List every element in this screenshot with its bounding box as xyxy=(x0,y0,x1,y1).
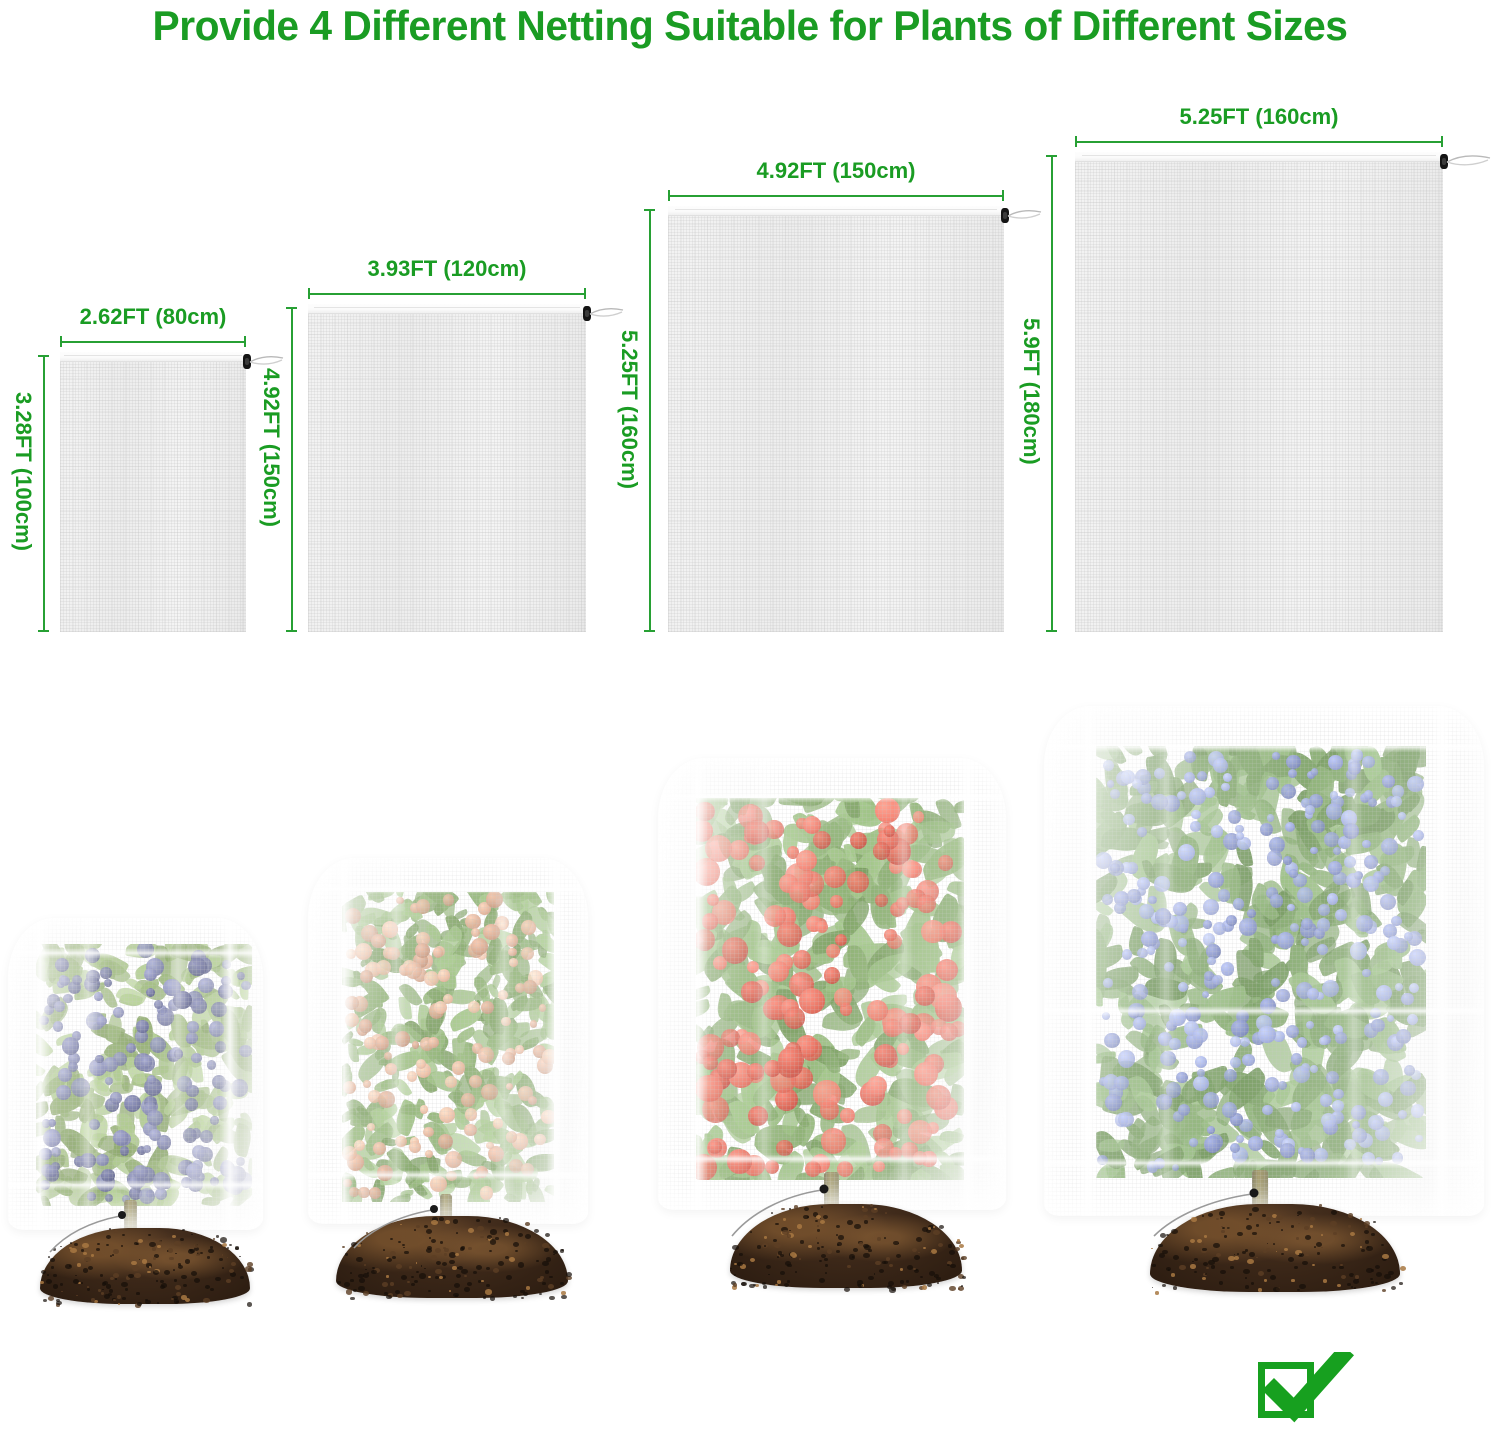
fruit xyxy=(777,922,802,947)
soil-speck xyxy=(1331,1210,1337,1215)
soil-speck xyxy=(1341,1244,1345,1247)
soil-speck xyxy=(181,1295,187,1299)
fruit xyxy=(1409,983,1419,993)
soil-speck xyxy=(483,1296,486,1298)
soil-speck xyxy=(247,1302,252,1306)
fruit xyxy=(1258,1026,1275,1043)
fruit xyxy=(1137,827,1146,836)
soil-speck xyxy=(847,1265,852,1269)
soil-speck xyxy=(734,1274,736,1276)
fruit xyxy=(72,975,82,985)
fruit xyxy=(364,1037,376,1049)
soil-speck xyxy=(884,1261,888,1264)
soil-speck xyxy=(787,1264,791,1267)
soil-speck xyxy=(1211,1265,1215,1268)
fruit xyxy=(113,1007,124,1018)
fruit xyxy=(813,1080,840,1107)
fruit xyxy=(821,1128,847,1154)
soil-speck xyxy=(877,1237,881,1240)
soil-speck xyxy=(912,1248,917,1252)
soil-speck xyxy=(1270,1275,1276,1280)
soil-speck xyxy=(404,1291,411,1296)
soil-speck xyxy=(1365,1226,1368,1228)
soil-speck xyxy=(103,1281,108,1285)
soil-speck xyxy=(1375,1282,1378,1284)
fruit xyxy=(133,1165,148,1180)
fruit xyxy=(420,1105,428,1113)
fruit xyxy=(1207,1126,1215,1134)
soil-speck xyxy=(868,1249,872,1252)
soil-speck xyxy=(371,1270,376,1274)
soil-speck xyxy=(868,1276,874,1281)
soil-speck xyxy=(178,1263,181,1266)
soil-speck xyxy=(933,1226,935,1228)
soil-speck xyxy=(1249,1252,1255,1257)
soil-speck xyxy=(1299,1253,1302,1256)
fruit xyxy=(1177,791,1186,800)
soil-speck xyxy=(961,1256,967,1260)
soil-speck xyxy=(1179,1265,1185,1270)
fruit xyxy=(824,866,846,888)
soil-speck xyxy=(931,1249,937,1254)
soil-speck xyxy=(1341,1275,1347,1279)
fruit xyxy=(1293,1066,1310,1083)
soil-speck xyxy=(464,1275,467,1277)
soil-speck xyxy=(226,1279,231,1283)
soil-speck xyxy=(1376,1272,1382,1277)
soil-speck xyxy=(950,1264,956,1268)
soil-speck xyxy=(481,1280,483,1282)
fruit xyxy=(1364,855,1378,869)
fruit xyxy=(1132,984,1148,1000)
plant-3-foliage xyxy=(696,798,964,1180)
soil-speck xyxy=(1332,1266,1336,1269)
fruit xyxy=(1378,1092,1393,1107)
fruit xyxy=(1356,915,1373,932)
soil-speck xyxy=(1281,1253,1284,1255)
fruit xyxy=(1326,803,1342,819)
soil-speck xyxy=(566,1272,572,1277)
fruit xyxy=(1110,789,1120,799)
fruit xyxy=(86,970,100,984)
soil-speck xyxy=(739,1253,743,1256)
fruit xyxy=(239,1045,251,1057)
fruit xyxy=(1222,1102,1237,1117)
soil-speck xyxy=(1288,1257,1294,1262)
fruit xyxy=(191,998,207,1014)
soil-speck xyxy=(46,1279,52,1284)
soil-speck xyxy=(870,1204,873,1207)
fruit xyxy=(1317,944,1328,955)
soil-speck xyxy=(922,1227,928,1232)
fruit xyxy=(707,894,719,906)
fruit xyxy=(1221,962,1235,976)
fruit xyxy=(1320,1094,1332,1106)
panel-3-cord-lock-toggle[interactable] xyxy=(1001,205,1047,227)
soil-speck xyxy=(102,1289,104,1291)
soil-speck xyxy=(1298,1223,1300,1224)
soil-speck xyxy=(1237,1253,1239,1255)
fruit xyxy=(1352,1128,1367,1143)
soil-speck xyxy=(1302,1261,1307,1265)
soil-speck xyxy=(153,1270,159,1275)
soil-speck xyxy=(561,1291,566,1295)
soil-speck xyxy=(499,1217,501,1219)
soil-speck xyxy=(1299,1284,1306,1289)
fruit xyxy=(445,1151,462,1168)
fruit xyxy=(1102,894,1113,905)
panel-3-hem xyxy=(668,206,1004,216)
fruit xyxy=(100,967,112,979)
soil-speck xyxy=(1373,1221,1375,1223)
soil-speck xyxy=(132,1265,139,1270)
fruit xyxy=(209,1021,224,1036)
fruit xyxy=(461,1093,475,1107)
soil-speck xyxy=(1310,1225,1314,1228)
fruit xyxy=(231,1079,249,1097)
soil-speck xyxy=(768,1274,770,1276)
fruit xyxy=(39,1148,52,1161)
soil-speck xyxy=(1354,1287,1357,1289)
fruit xyxy=(371,934,385,948)
soil-speck xyxy=(933,1230,939,1235)
fruit xyxy=(407,1071,417,1081)
fruit xyxy=(1178,1104,1190,1116)
soil-speck xyxy=(428,1276,431,1278)
soil-speck xyxy=(495,1237,499,1240)
fruit xyxy=(1362,969,1370,977)
plant-group-1 xyxy=(2,918,302,1318)
soil-speck xyxy=(922,1285,927,1289)
soil-speck xyxy=(239,1256,241,1257)
fruit xyxy=(1362,756,1375,769)
fruit xyxy=(198,978,213,993)
fruit xyxy=(1248,1136,1263,1151)
soil-speck xyxy=(885,1212,887,1214)
soil-speck xyxy=(1155,1291,1160,1295)
plant-4-foliage xyxy=(1096,746,1426,1178)
netting-panel-3[interactable] xyxy=(668,206,1004,632)
soil-speck xyxy=(134,1273,140,1278)
soil-speck xyxy=(449,1260,455,1265)
fruit xyxy=(1307,988,1319,1000)
soil-speck xyxy=(386,1275,389,1277)
soil-speck xyxy=(359,1278,365,1283)
soil-speck xyxy=(411,1276,414,1279)
soil-speck xyxy=(949,1250,955,1255)
fruit xyxy=(1118,1050,1135,1067)
soil-speck xyxy=(456,1274,461,1278)
check-icon xyxy=(1264,1352,1354,1426)
soil-speck xyxy=(879,1269,884,1273)
soil-speck xyxy=(542,1282,546,1285)
soil-speck xyxy=(409,1266,412,1268)
page-title: Provide 4 Different Netting Suitable for… xyxy=(23,2,1478,50)
fruit xyxy=(1318,904,1330,916)
drawstring-cord-icon xyxy=(1446,151,1496,173)
soil-speck xyxy=(169,1257,173,1260)
fruit xyxy=(378,1091,395,1108)
fruit xyxy=(62,1037,80,1055)
fruit xyxy=(1203,1092,1219,1108)
soil-speck xyxy=(1190,1264,1196,1268)
soil-speck xyxy=(1360,1218,1362,1220)
fruit xyxy=(1230,1036,1241,1047)
soil-speck xyxy=(180,1238,184,1241)
fruit xyxy=(1330,791,1338,799)
soil-speck xyxy=(108,1293,112,1296)
soil-speck xyxy=(147,1271,150,1274)
soil-speck xyxy=(219,1258,223,1261)
soil-speck xyxy=(1264,1279,1267,1281)
soil-speck xyxy=(240,1276,244,1279)
fruit xyxy=(443,894,454,905)
fruit xyxy=(1239,918,1256,935)
soil-speck xyxy=(1234,1256,1239,1260)
soil-speck xyxy=(53,1284,58,1288)
fruit xyxy=(1260,823,1273,836)
leaf xyxy=(696,998,711,1019)
plant-2-drawstring xyxy=(348,1186,478,1260)
soil-speck xyxy=(386,1295,392,1300)
soil-speck xyxy=(164,1270,170,1275)
soil-speck xyxy=(1251,1282,1254,1285)
fruit xyxy=(1128,1007,1139,1018)
fruit xyxy=(498,990,508,1000)
soil-speck xyxy=(172,1235,176,1238)
soil-speck xyxy=(100,1274,103,1277)
fruit xyxy=(423,1127,433,1137)
soil-speck xyxy=(1339,1266,1344,1270)
fruit xyxy=(409,1141,421,1153)
soil-speck xyxy=(928,1227,931,1230)
fruit xyxy=(210,1116,219,1125)
fruit xyxy=(1280,1143,1295,1158)
soil-speck xyxy=(948,1244,952,1247)
fruit xyxy=(1266,777,1279,790)
soil-speck xyxy=(545,1270,549,1273)
fruit xyxy=(416,899,430,913)
soil-speck xyxy=(937,1282,939,1284)
fruit xyxy=(94,992,103,1001)
fruit xyxy=(1311,768,1318,775)
soil-speck xyxy=(88,1266,93,1270)
soil-speck xyxy=(390,1282,394,1285)
plant-group-3 xyxy=(652,758,1012,1318)
fruit xyxy=(834,988,852,1006)
soil-speck xyxy=(442,1262,447,1266)
fruit xyxy=(1114,1076,1129,1091)
soil-speck xyxy=(775,1284,778,1286)
soil-speck xyxy=(207,1256,210,1258)
fruit xyxy=(1283,856,1292,865)
fruit xyxy=(539,1004,546,1011)
fruit xyxy=(702,913,719,930)
fruit xyxy=(768,961,789,982)
fruit xyxy=(191,1053,202,1064)
soil-speck xyxy=(1230,1266,1234,1269)
soil-speck xyxy=(906,1280,909,1283)
soil-speck xyxy=(857,1284,861,1287)
fruit xyxy=(703,1056,718,1071)
fruit xyxy=(53,1021,63,1031)
fruit xyxy=(799,988,825,1014)
soil-speck xyxy=(1263,1250,1267,1253)
soil-speck xyxy=(1330,1221,1337,1226)
soil-speck xyxy=(1399,1282,1403,1285)
soil-speck xyxy=(962,1276,966,1279)
soil-speck xyxy=(231,1262,236,1266)
fruit xyxy=(1333,1089,1343,1099)
soil-speck xyxy=(48,1296,54,1301)
soil-speck xyxy=(1258,1271,1264,1276)
leaf xyxy=(1248,938,1263,967)
soil-speck xyxy=(191,1271,197,1276)
soil-speck xyxy=(51,1266,54,1268)
fruit xyxy=(1311,820,1324,833)
panel-2-width-label: 3.93FT (120cm) xyxy=(308,256,586,282)
fruit xyxy=(1317,918,1330,931)
fruit xyxy=(1267,850,1283,866)
fruit xyxy=(921,920,944,943)
soil-speck xyxy=(525,1234,531,1239)
panel-4-cord-lock-toggle[interactable] xyxy=(1440,151,1486,173)
fruit xyxy=(360,970,373,983)
fruit xyxy=(96,1016,106,1026)
netting-panel-2[interactable] xyxy=(308,304,586,632)
soil-speck xyxy=(1168,1269,1170,1271)
soil-speck xyxy=(1375,1265,1380,1269)
panel-3-width-dimension-line xyxy=(668,190,1004,201)
soil-speck xyxy=(1194,1271,1197,1273)
fruit xyxy=(46,1165,58,1177)
soil-speck xyxy=(43,1299,47,1302)
selected-checkmark[interactable] xyxy=(1258,1352,1354,1430)
fruit xyxy=(1277,932,1294,949)
fruit xyxy=(1276,989,1289,1002)
fruit xyxy=(1328,755,1343,770)
fruit xyxy=(68,1062,78,1072)
netting-panel-4[interactable] xyxy=(1075,152,1443,632)
fruit xyxy=(884,825,896,837)
soil-speck xyxy=(1276,1251,1278,1252)
soil-speck xyxy=(1312,1264,1315,1266)
soil-speck xyxy=(1391,1286,1397,1290)
soil-speck xyxy=(1350,1232,1355,1236)
soil-speck xyxy=(1304,1226,1309,1230)
soil-speck xyxy=(411,1283,415,1286)
soil-speck xyxy=(1305,1254,1308,1257)
fruit xyxy=(534,1134,545,1145)
soil-speck xyxy=(1258,1288,1262,1291)
panel-3-height-dimension-line xyxy=(644,209,655,632)
fruit xyxy=(509,958,518,967)
fruit xyxy=(776,1140,792,1156)
soil-speck xyxy=(122,1297,125,1300)
soil-speck xyxy=(215,1277,221,1281)
soil-speck xyxy=(561,1295,567,1300)
fruit xyxy=(917,895,935,913)
soil-speck xyxy=(216,1235,219,1237)
soil-speck xyxy=(489,1250,492,1252)
fruit xyxy=(1351,749,1364,762)
soil-speck xyxy=(1173,1286,1177,1289)
soil-speck xyxy=(416,1262,418,1263)
fruit xyxy=(1203,899,1219,915)
soil-speck xyxy=(449,1290,452,1292)
soil-speck xyxy=(175,1253,177,1254)
soil-speck xyxy=(1205,1273,1207,1275)
fruit xyxy=(376,960,391,975)
fruit xyxy=(345,1013,359,1027)
fruit xyxy=(1260,998,1276,1014)
soil-speck xyxy=(1291,1279,1294,1282)
fruit xyxy=(173,991,191,1009)
soil-speck xyxy=(196,1254,199,1257)
fruit xyxy=(515,983,525,993)
soil-speck xyxy=(1194,1258,1198,1262)
soil-speck xyxy=(396,1264,402,1269)
soil-speck xyxy=(1273,1287,1280,1292)
fruit xyxy=(1223,773,1232,782)
netting-panel-1[interactable] xyxy=(60,352,246,632)
soil-speck xyxy=(344,1282,350,1287)
soil-speck xyxy=(76,1295,78,1296)
fruit xyxy=(914,1062,938,1086)
fruit xyxy=(1335,1032,1347,1044)
soil-speck xyxy=(1267,1269,1271,1272)
fruit xyxy=(1151,794,1167,810)
fruit xyxy=(1211,825,1224,838)
fruit xyxy=(452,1061,465,1074)
fruit xyxy=(896,897,909,910)
soil-speck xyxy=(537,1278,543,1283)
fruit xyxy=(1178,982,1188,992)
soil-speck xyxy=(506,1275,512,1280)
soil-speck xyxy=(118,1303,120,1305)
fruit xyxy=(508,948,517,957)
soil-speck xyxy=(902,1285,907,1289)
fruit xyxy=(1413,830,1424,841)
soil-speck xyxy=(350,1297,354,1300)
soil-speck xyxy=(53,1274,56,1277)
soil-speck xyxy=(1382,1289,1386,1292)
soil-speck xyxy=(875,1261,880,1265)
fruit xyxy=(1212,975,1222,985)
infographic-canvas: Provide 4 Different Netting Suitable for… xyxy=(0,0,1500,1437)
soil-speck xyxy=(1349,1273,1355,1278)
soil-speck xyxy=(824,1258,827,1261)
fruit xyxy=(1297,1037,1308,1048)
fruit xyxy=(1122,949,1132,959)
soil-speck xyxy=(490,1239,497,1244)
fruit xyxy=(938,855,954,871)
fruit xyxy=(343,1081,356,1094)
panel-2-cord-lock-toggle[interactable] xyxy=(583,303,629,325)
soil-speck xyxy=(194,1244,198,1248)
soil-speck xyxy=(227,1247,229,1249)
fruit xyxy=(824,967,841,984)
fruit xyxy=(696,802,715,821)
soil-speck xyxy=(490,1229,497,1234)
fruit xyxy=(1127,889,1140,902)
fruit xyxy=(1310,847,1318,855)
fruit xyxy=(1176,1072,1188,1084)
soil-speck xyxy=(871,1218,874,1221)
soil-speck xyxy=(480,1236,484,1239)
soil-speck xyxy=(1364,1230,1369,1234)
soil-speck xyxy=(467,1282,472,1286)
